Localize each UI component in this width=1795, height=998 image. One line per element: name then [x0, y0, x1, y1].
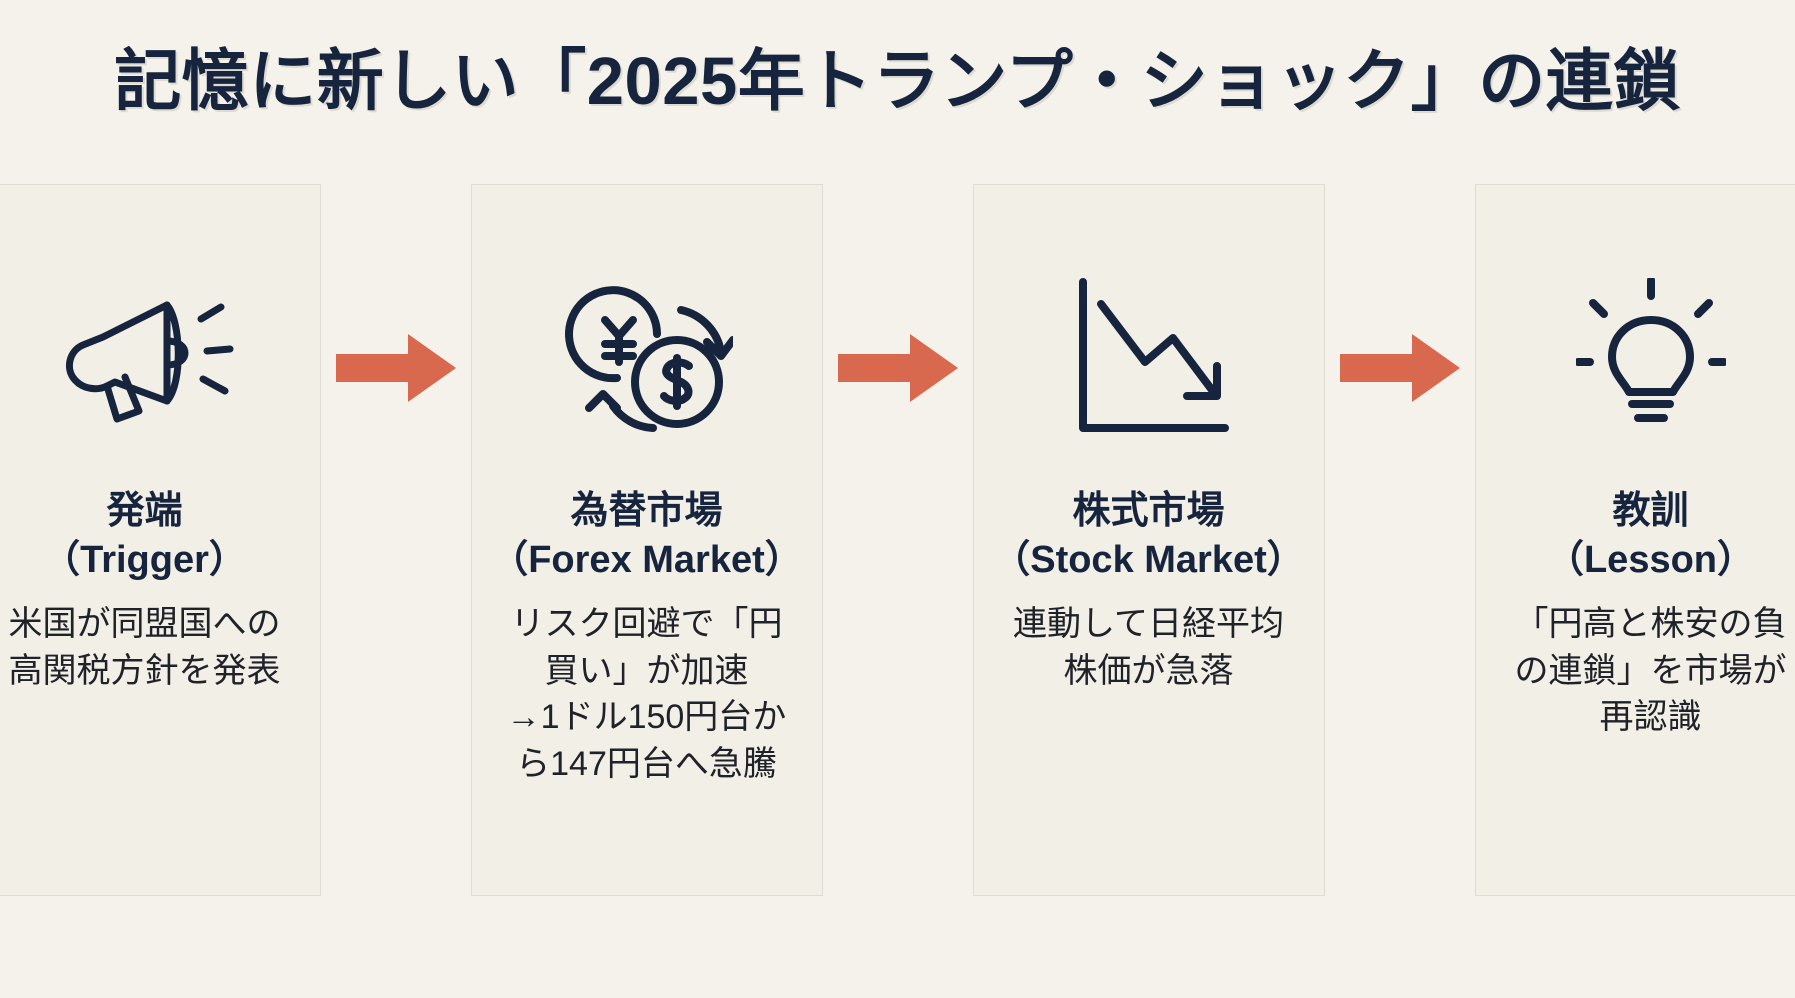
card-body: 連動して日経平均 株価が急落 — [1013, 601, 1284, 695]
flow-arrow-3 — [1325, 184, 1475, 404]
slide-root: 記憶に新しい「2025年トランプ・ショック」の連鎖 発端 （Trigger） 米… — [0, 0, 1795, 998]
flow-arrow-1 — [321, 184, 471, 404]
megaphone-icon — [55, 263, 235, 453]
flow-card-trigger[interactable]: 発端 （Trigger） 米国が同盟国への 高関税方針を発表 — [0, 184, 321, 896]
card-body: 米国が同盟国への 高関税方針を発表 — [9, 601, 281, 695]
title-area: 記憶に新しい「2025年トランプ・ショック」の連鎖 — [0, 0, 1795, 122]
lightbulb-icon — [1576, 263, 1726, 453]
page-title: 記憶に新しい「2025年トランプ・ショック」の連鎖 — [0, 42, 1795, 122]
card-heading: 発端 （Trigger） — [42, 487, 247, 584]
card-body: リスク回避で「円 買い」が加速 →1ドル150円台か ら147円台へ急騰 — [507, 601, 787, 789]
flow-card-lesson[interactable]: 教訓 （Lesson） 「円高と株安の負 の連鎖」を市場が 再認識 — [1475, 184, 1795, 896]
card-heading: 為替市場 （Forex Market） — [490, 487, 803, 584]
flow-arrow-2 — [823, 184, 973, 404]
card-heading: 教訓 （Lesson） — [1546, 487, 1755, 584]
flow-card-stock[interactable]: 株式市場 （Stock Market） 連動して日経平均 株価が急落 — [973, 184, 1325, 896]
flow-card-forex[interactable]: 為替市場 （Forex Market） リスク回避で「円 買い」が加速 →1ドル… — [471, 184, 823, 896]
flow-diagram: 発端 （Trigger） 米国が同盟国への 高関税方針を発表 — [0, 122, 1795, 998]
card-heading: 株式市場 （Stock Market） — [992, 487, 1305, 584]
card-body: 「円高と株安の負 の連鎖」を市場が 再認識 — [1515, 601, 1787, 742]
currency-exchange-icon — [561, 263, 733, 453]
declining-chart-icon — [1069, 263, 1229, 453]
